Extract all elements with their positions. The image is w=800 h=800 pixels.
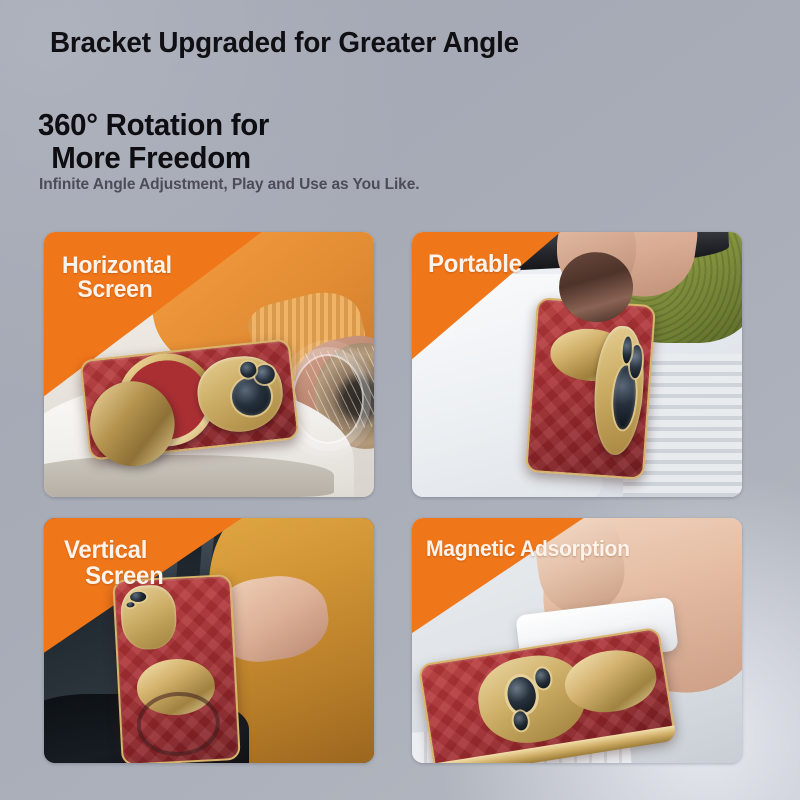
table-edge [44,455,334,497]
main-camera-lens [129,591,146,603]
panel-label-line-2: Screen [62,278,172,302]
secondary-camera-lens [534,667,552,690]
secondary-camera-lens [254,363,276,384]
camera-island [119,584,177,650]
phone-case-portrait [112,574,240,763]
panel-label-vertical: Vertical Screen [64,538,163,589]
secondary-camera-lens [126,602,135,608]
phone-case-landscape [79,338,300,460]
panel-label-line-2: Screen [64,564,163,590]
subheadline-line-1: 360° Rotation for [38,107,269,142]
panel-label-line-1: Portable [428,250,522,278]
page-headline: Bracket Upgraded for Greater Angle [50,27,519,60]
panel-label-portable: Portable [428,252,522,278]
main-camera-lens [505,675,538,715]
panel-label-horizontal: Horizontal Screen [62,254,172,303]
page-tagline: Infinite Angle Adjustment, Play and Use … [39,176,419,194]
subheadline-line-2: More Freedom [38,141,269,174]
tertiary-camera-lens [239,361,257,378]
panel-label-line-1: Vertical [64,536,147,564]
panel-label-magnetic: Magnetic Adsorption [426,538,630,560]
tertiary-camera-lens [512,711,529,732]
feature-panel-horizontal[interactable]: Horizontal Screen [44,232,374,497]
feature-panel-vertical[interactable]: Vertical Screen [44,518,374,763]
phone-case-hanging [525,297,656,480]
panel-label-line-1: Horizontal [62,252,172,279]
page-subheadline: 360° Rotation for More Freedom [38,108,269,174]
panel-label-line-1: Magnetic Adsorption [426,536,630,561]
feature-panel-portable[interactable]: Portable [412,232,742,497]
feature-panel-magnetic[interactable]: Magnetic Adsorption [412,518,742,763]
magnetic-wave-indicator [292,354,365,444]
